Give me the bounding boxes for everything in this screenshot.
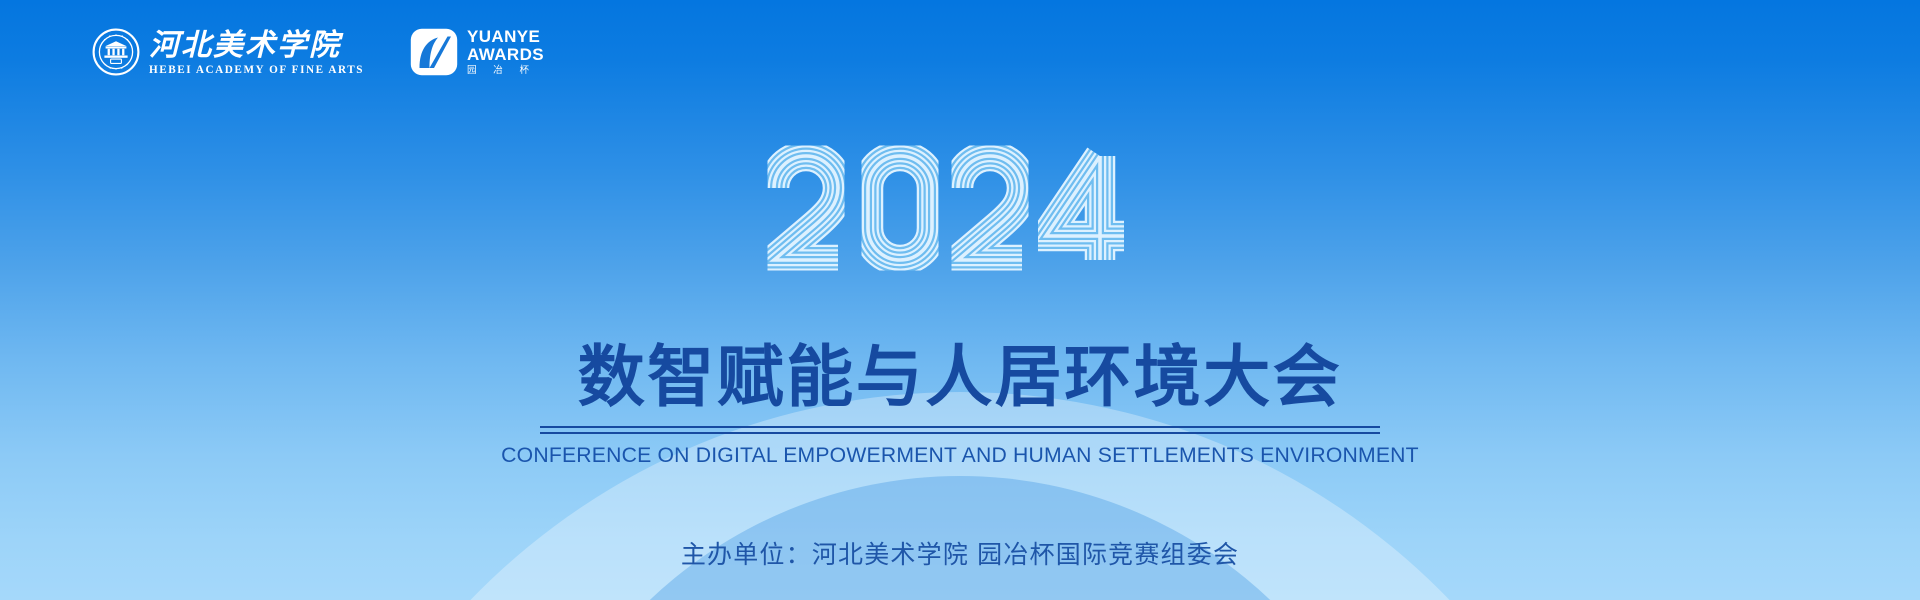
- circular-seal-icon: [92, 28, 140, 76]
- organizer-line: 主办单位：河北美术学院 园冶杯国际竞赛组委会: [0, 535, 1920, 571]
- page-title: 数智赋能与人居环境大会: [0, 342, 1920, 414]
- yuanye-wordmark: YUANYE AWARDS 园 冶 杯: [467, 28, 544, 76]
- svg-text:河北美术学院: 河北美术学院: [149, 28, 344, 62]
- logo-row: 河北美术学院 HEBEI ACADEMY OF FINE ARTS YUANYE…: [92, 28, 544, 76]
- conference-banner: 河北美术学院 HEBEI ACADEMY OF FINE ARTS YUANYE…: [0, 0, 1920, 600]
- yuanye-line1: YUANYE: [467, 28, 544, 45]
- hebei-academy-wordmark: 河北美术学院 HEBEI ACADEMY OF FINE ARTS: [149, 28, 364, 76]
- page-subtitle: CONFERENCE ON DIGITAL EMPOWERMENT AND HU…: [14, 443, 1905, 468]
- title-divider: [540, 426, 1380, 434]
- divider-line-1: [540, 426, 1380, 428]
- yuanye-leaf-mark-icon: [410, 28, 458, 76]
- title-block: 数智赋能与人居环境大会 CONFERENCE ON DIGITAL EMPOWE…: [0, 342, 1920, 468]
- yuanye-line2: AWARDS: [467, 46, 544, 63]
- hebei-academy-name-en: HEBEI ACADEMY OF FINE ARTS: [149, 64, 364, 76]
- yuanye-cn-char-3: 杯: [519, 66, 529, 76]
- logo-yuanye-awards[interactable]: YUANYE AWARDS 园 冶 杯: [410, 28, 544, 76]
- logo-hebei-academy[interactable]: 河北美术学院 HEBEI ACADEMY OF FINE ARTS: [92, 28, 364, 76]
- yuanye-cn-char-1: 园: [467, 66, 477, 76]
- year-2024-graphic: [760, 136, 1160, 286]
- hebei-academy-name-cn: 河北美术学院: [149, 28, 364, 62]
- divider-line-2: [540, 432, 1380, 434]
- yuanye-cn-char-2: 冶: [493, 66, 503, 76]
- yuanye-name-cn: 园 冶 杯: [467, 66, 529, 76]
